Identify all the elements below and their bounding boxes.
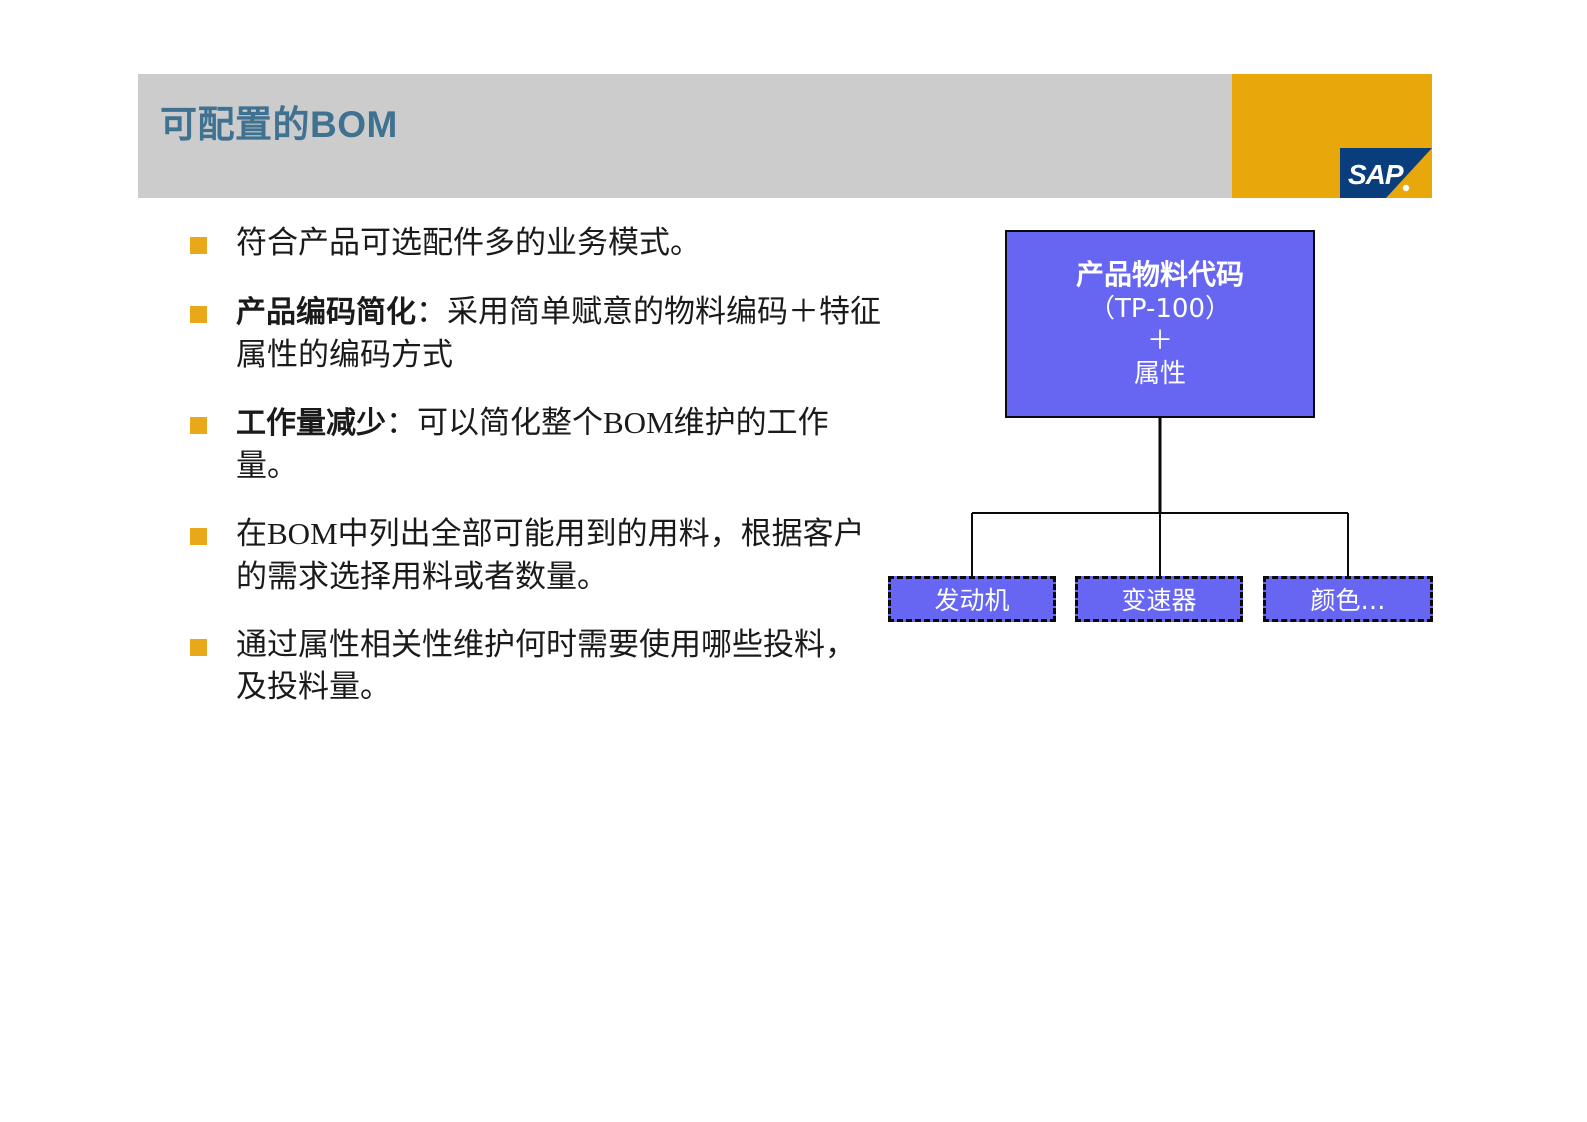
bullet-square-icon [190, 639, 207, 656]
bom-hierarchy-diagram: 产品物料代码 （TP-100） ＋ 属性 发动机 变速器 颜色… [860, 220, 1460, 640]
svg-text:SAP: SAP [1348, 159, 1404, 190]
list-item-body: 符合产品可选配件多的业务模式。 [236, 225, 701, 260]
header-banner: 可配置的BOM [138, 74, 1232, 198]
diagram-child-node-engine: 发动机 [888, 576, 1056, 622]
list-item-lead: 工作量减少 [236, 406, 386, 441]
list-item: 工作量减少：可以简化整个BOM维护的工作量。 [186, 402, 886, 487]
list-item-body: 在BOM中列出全部可能用到的用料，根据客户的需求选择用料或者数量。 [236, 516, 865, 594]
bullet-square-icon [190, 417, 207, 434]
diagram-child-node-color: 颜色… [1263, 576, 1433, 622]
child-node-label: 变速器 [1121, 581, 1196, 617]
list-item-text: 通过属性相关性维护何时需要使用哪些投料，及投料量。 [236, 624, 886, 709]
parent-node-line-4: 属性 [1134, 358, 1186, 391]
list-item: 通过属性相关性维护何时需要使用哪些投料，及投料量。 [186, 624, 886, 709]
page-title: 可配置的BOM [160, 94, 398, 148]
list-item: 产品编码简化：采用简单赋意的物料编码＋特征属性的编码方式 [186, 291, 886, 376]
child-node-label: 颜色… [1310, 581, 1385, 617]
parent-node-line-2: （TP-100） [1089, 293, 1231, 326]
list-item-lead: 产品编码简化 [236, 295, 416, 330]
bullet-square-icon [190, 237, 207, 254]
diagram-child-node-transmission: 变速器 [1075, 576, 1243, 622]
list-item-body: 通过属性相关性维护何时需要使用哪些投料，及投料量。 [236, 627, 856, 705]
child-node-label: 发动机 [934, 581, 1009, 617]
list-item-text: 工作量减少：可以简化整个BOM维护的工作量。 [236, 402, 886, 487]
list-item: 在BOM中列出全部可能用到的用料，根据客户的需求选择用料或者数量。 [186, 513, 886, 598]
bullet-list: 符合产品可选配件多的业务模式。 产品编码简化：采用简单赋意的物料编码＋特征属性的… [186, 222, 886, 735]
bullet-square-icon [190, 528, 207, 545]
sap-logo-icon: SAP [1340, 148, 1432, 198]
list-item-text: 产品编码简化：采用简单赋意的物料编码＋特征属性的编码方式 [236, 291, 886, 376]
list-item-text: 在BOM中列出全部可能用到的用料，根据客户的需求选择用料或者数量。 [236, 513, 886, 598]
bullet-square-icon [190, 306, 207, 323]
sap-logo-block: SAP [1232, 74, 1432, 198]
list-item-text: 符合产品可选配件多的业务模式。 [236, 222, 886, 265]
list-item: 符合产品可选配件多的业务模式。 [186, 222, 886, 265]
diagram-parent-node: 产品物料代码 （TP-100） ＋ 属性 [1005, 230, 1315, 418]
parent-node-line-3: ＋ [1147, 325, 1173, 358]
parent-node-line-1: 产品物料代码 [1076, 257, 1244, 292]
